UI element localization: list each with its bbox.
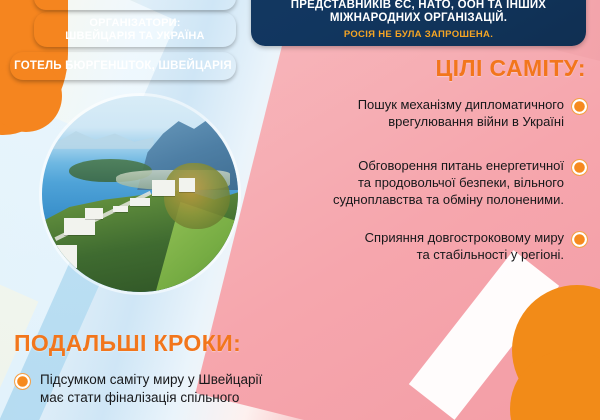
- participants-info-box: ПРЕДСТАВНИКІВ ЄС, НАТО, ООН ТА ІНШИХ МІЖ…: [251, 0, 586, 46]
- goal-item-text: Пошук механізму дипломатичного врегулюва…: [358, 96, 564, 130]
- bullet-dot-icon: [571, 231, 588, 248]
- photo-building: [54, 245, 78, 269]
- photo-building: [152, 180, 176, 196]
- photo-building: [179, 178, 195, 192]
- goal-item-text: Обговорення питань енергетичної та продо…: [333, 157, 564, 208]
- summit-pill-partial: [34, 0, 236, 10]
- goal-item: Обговорення питань енергетичної та продо…: [333, 157, 588, 208]
- organizers-label: ОРГАНІЗАТОРИ:: [89, 17, 180, 30]
- participants-line-2: МІЖНАРОДНИХ ОРГАНІЗАЦІЙ.: [330, 12, 507, 25]
- goal-item: Пошук механізму дипломатичного врегулюва…: [358, 96, 588, 130]
- participants-line-1: ПРЕДСТАВНИКІВ ЄС, НАТО, ООН ТА ІНШИХ: [291, 0, 546, 12]
- goal-item-text: Сприяння довгостроковому миру та стабіль…: [365, 229, 564, 263]
- bullet-dot-icon: [571, 98, 588, 115]
- photo-building: [130, 198, 150, 206]
- photo-autumn-trees: [164, 163, 231, 230]
- next-step-item-text: Підсумком саміту миру у Швейцарії має ст…: [40, 371, 262, 407]
- photo-building: [85, 208, 103, 220]
- infographic-poster: ПРЕДСТАВНИКІВ ЄС, НАТО, ООН ТА ІНШИХ МІЖ…: [0, 0, 600, 420]
- venue-pill: ГОТЕЛЬ БЮРГЕНШТОК, ШВЕЙЦАРІЯ: [10, 52, 236, 80]
- organizers-value: ШВЕЙЦАРІЯ ТА УКРАЇНА: [65, 30, 204, 43]
- russia-not-invited-note: РОСІЯ НЕ БУЛА ЗАПРОШЕНА.: [344, 29, 493, 40]
- goals-heading: ЦІЛІ САМІТУ:: [435, 55, 586, 82]
- goal-item: Сприяння довгостроковому миру та стабіль…: [365, 229, 588, 263]
- photo-building: [113, 206, 129, 212]
- venue-label: ГОТЕЛЬ БЮРГЕНШТОК, ШВЕЙЦАРІЯ: [14, 60, 232, 73]
- next-steps-heading: ПОДАЛЬШІ КРОКИ:: [14, 330, 241, 357]
- bullet-dot-icon: [14, 373, 31, 390]
- organizers-pill: ОРГАНІЗАТОРИ: ШВЕЙЦАРІЯ ТА УКРАЇНА: [34, 12, 236, 47]
- next-step-item: Підсумком саміту миру у Швейцарії має ст…: [14, 371, 262, 407]
- bullet-dot-icon: [571, 159, 588, 176]
- burgenstock-photo: [42, 96, 238, 292]
- photo-building: [64, 218, 95, 236]
